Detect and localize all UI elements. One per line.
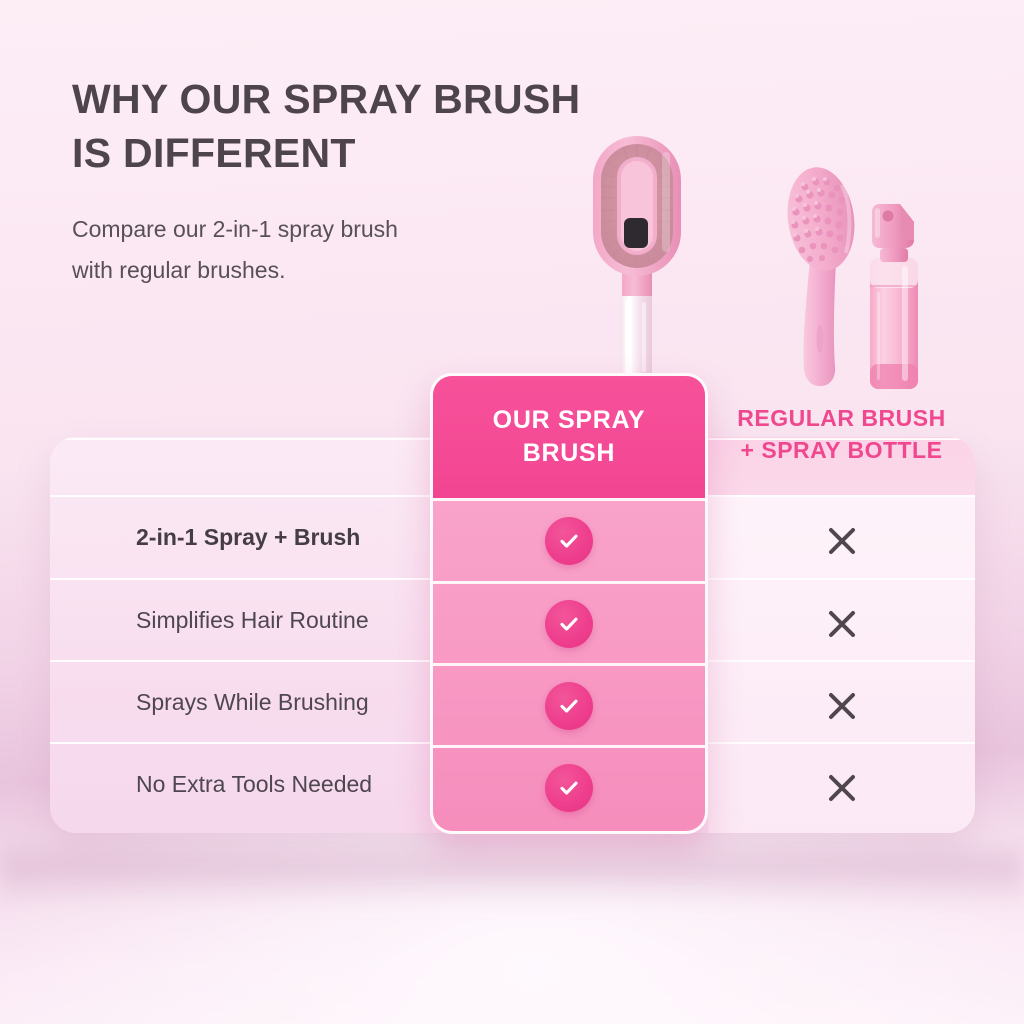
card-floor-shadow bbox=[0, 838, 1024, 908]
ours-row-divider bbox=[433, 663, 705, 666]
check-circle-icon bbox=[545, 517, 593, 565]
page-subtitle: Compare our 2-in-1 spray brush with regu… bbox=[72, 180, 632, 291]
cell-ours-row-3 bbox=[430, 677, 708, 735]
product-image-regular-brush bbox=[780, 163, 864, 389]
cell-regular-row-4 bbox=[708, 759, 975, 817]
ours-row-divider bbox=[433, 498, 705, 501]
cross-icon bbox=[825, 607, 859, 641]
column-header-ours: OUR SPRAY BRUSH bbox=[433, 376, 705, 498]
cell-ours-row-1 bbox=[430, 512, 708, 570]
column-header-ours-label: OUR SPRAY BRUSH bbox=[493, 404, 646, 470]
cell-regular-row-2 bbox=[708, 595, 975, 653]
cell-ours-row-2 bbox=[430, 595, 708, 653]
feature-label-row-3: Sprays While Brushing bbox=[136, 689, 436, 716]
cross-icon bbox=[825, 524, 859, 558]
page-title: WHY OUR SPRAY BRUSH IS DIFFERENT bbox=[72, 72, 632, 180]
cross-icon bbox=[825, 689, 859, 723]
product-image-spray-brush bbox=[584, 132, 690, 384]
feature-label-row-1: 2-in-1 Spray + Brush bbox=[136, 524, 436, 551]
comparison-table: OUR SPRAY BRUSH REGULAR BRUSH + SPRAY BO… bbox=[50, 437, 975, 833]
feature-label-row-2: Simplifies Hair Routine bbox=[136, 607, 436, 634]
check-circle-icon bbox=[545, 682, 593, 730]
cell-ours-row-4 bbox=[430, 759, 708, 817]
cross-icon bbox=[825, 771, 859, 805]
ours-row-divider bbox=[433, 745, 705, 748]
feature-label-row-4: No Extra Tools Needed bbox=[136, 771, 436, 798]
check-circle-icon bbox=[545, 600, 593, 648]
infographic-canvas: WHY OUR SPRAY BRUSH IS DIFFERENT Compare… bbox=[0, 0, 1024, 1024]
column-header-regular-label: REGULAR BRUSH + SPRAY BOTTLE bbox=[708, 373, 975, 495]
cell-regular-row-3 bbox=[708, 677, 975, 735]
check-circle-icon bbox=[545, 764, 593, 812]
ours-row-divider bbox=[433, 581, 705, 584]
product-image-spray-bottle bbox=[866, 196, 922, 389]
cell-regular-row-1 bbox=[708, 512, 975, 570]
headline-block: WHY OUR SPRAY BRUSH IS DIFFERENT Compare… bbox=[72, 72, 632, 291]
